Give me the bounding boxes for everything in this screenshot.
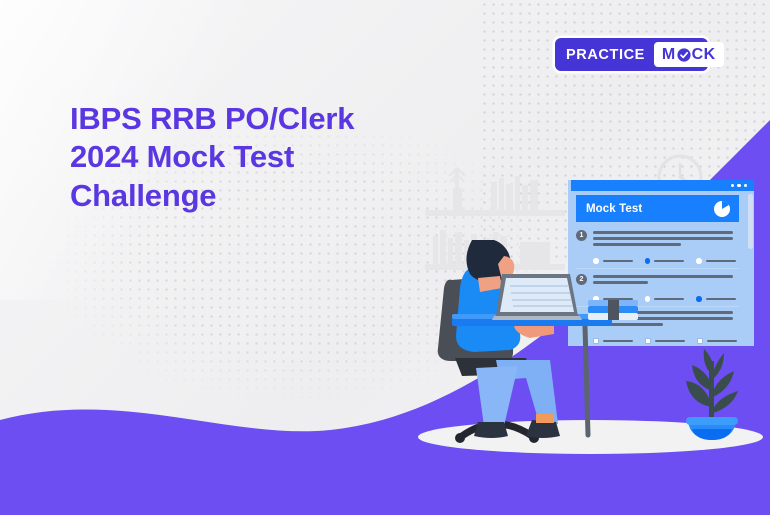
logo-mock-text-after: CK — [692, 46, 716, 64]
window-dot-icon[interactable] — [731, 184, 735, 188]
page-title: IBPS RRB PO/Clerk 2024 Mock Test Challen… — [70, 100, 410, 215]
mock-test-header: Mock Test — [576, 195, 739, 222]
practice-mock-logo[interactable]: PRACTICE M CK — [555, 38, 708, 71]
pie-timer-icon — [714, 201, 730, 217]
potted-plant-icon — [676, 345, 748, 443]
logo-mock-text-before: M — [662, 46, 676, 64]
stacked-books-icon — [588, 300, 638, 320]
check-circle-icon — [677, 48, 691, 62]
window-dot-icon[interactable] — [737, 184, 741, 188]
logo-mock-panel: M CK — [654, 42, 724, 67]
logo-practice-text: PRACTICE — [555, 47, 654, 63]
mock-test-title: Mock Test — [586, 203, 642, 215]
promo-banner: Mock Test 1 2 — [0, 0, 770, 515]
window-dot-icon[interactable] — [744, 184, 748, 188]
window-titlebar — [571, 180, 754, 191]
